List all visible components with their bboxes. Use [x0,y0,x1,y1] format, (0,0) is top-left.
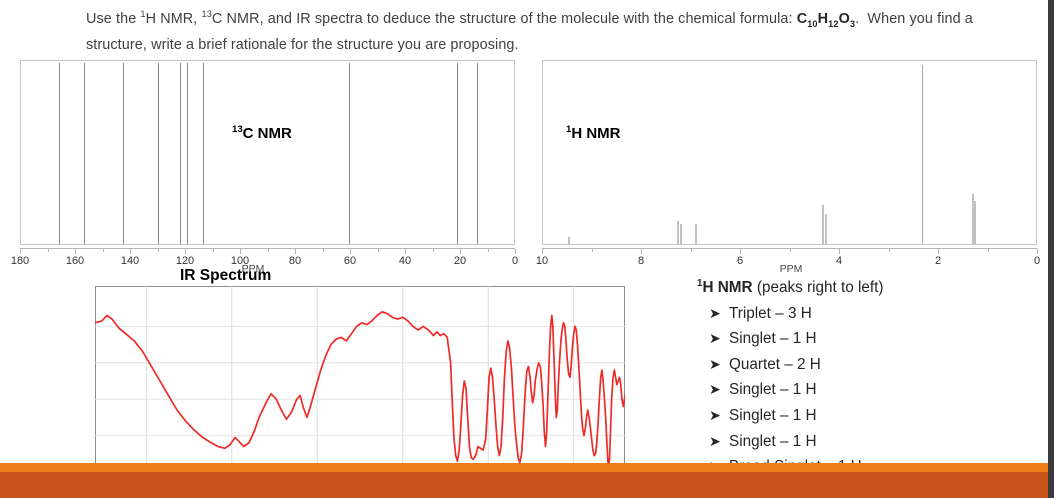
arrow-bullet-icon: ➤ [709,403,729,428]
list-item: ➤Singlet – 1 H [697,429,1042,455]
c13-axis-tick [295,249,296,254]
ir-trace-line [95,312,625,467]
h1-axis-tick [542,249,543,254]
c13-peak [123,63,124,244]
h1-axis-minor-tick [592,249,593,252]
list-item-label: Singlet – 1 H [729,378,817,403]
h1-peak [695,224,697,244]
h1-axis-minor-tick [889,249,890,252]
list-item: ➤Singlet – 1 H [697,403,1042,429]
c13-axis-minor-tick [268,249,269,252]
c13-tick-label: 120 [176,255,194,267]
c13-peak [158,63,159,244]
h1-peak [677,221,679,244]
c13-tick-label: 20 [454,255,466,267]
c13-nmr-chart: 13C NMR 180160140120100806040200 PPM [0,52,528,282]
c13-tick-label: 60 [344,255,356,267]
c13-tick-label: 80 [289,255,301,267]
h1-axis-tick [839,249,840,254]
slide-edge-strip [1048,0,1054,498]
accent-bar-light [0,463,1048,472]
c13-axis-tick [515,249,516,254]
c13-peak [203,63,204,244]
c13-peak [457,63,458,244]
c13-axis-minor-tick [213,249,214,252]
c13-axis-tick [75,249,76,254]
c13-tick-label: 40 [399,255,411,267]
h1-axis-tick [938,249,939,254]
slide-canvas: Use the 1H NMR, 13C NMR, and IR spectra … [0,0,1054,498]
list-item-label: Singlet – 1 H [729,404,817,429]
h1-axis-minor-tick [691,249,692,252]
arrow-bullet-icon: ➤ [709,377,729,402]
c13-axis-tick [350,249,351,254]
h1-tick-label: 0 [1034,255,1040,267]
c13-title-superscript: 13 [232,124,243,135]
h1-axis-minor-tick [790,249,791,252]
c13-axis-minor-tick [158,249,159,252]
h1-axis-tick [740,249,741,254]
hnmr-list-heading: 1H NMR (peaks right to left) [697,272,1042,301]
c13-title-text: C NMR [243,125,292,142]
h1-tick-label: 2 [935,255,941,267]
h1-nmr-chart: 1H NMR 1086420 PPM [526,52,1054,282]
c13-peak [187,63,188,244]
c13-axis-minor-tick [378,249,379,252]
c13-axis-tick [240,249,241,254]
c13-axis-tick [20,249,21,254]
c13-axis-tick [185,249,186,254]
c13-tick-label: 0 [512,255,518,267]
h1-peak [825,214,827,244]
arrow-bullet-icon: ➤ [709,326,729,351]
h1-axis-tick [641,249,642,254]
h1-peak [822,205,824,244]
page-title: Use the 1H NMR, 13C NMR, and IR spectra … [86,4,996,56]
h1-axis-tick [1037,249,1038,254]
list-item: ➤Triplet – 3 H [697,301,1042,327]
c13-peak [180,63,181,244]
c13-peak [477,63,478,244]
h1-tick-label: 10 [536,255,548,267]
c13-chart-title: 13C NMR [232,124,292,142]
list-item-label: Triplet – 3 H [729,302,812,327]
h1-plot-area [542,60,1037,245]
c13-tick-label: 140 [121,255,139,267]
c13-axis-minor-tick [323,249,324,252]
h1-axis-minor-tick [988,249,989,252]
arrow-bullet-icon: ➤ [709,301,729,326]
ir-spectrum-chart: 350030002500200015001000 [95,286,625,476]
h1-peak [922,65,923,244]
list-item: ➤Singlet – 1 H [697,326,1042,352]
h1-tick-label: 6 [737,255,743,267]
h1-peak [568,237,570,244]
c13-axis-minor-tick [488,249,489,252]
h1-title-text: H NMR [571,125,620,142]
list-item-label: Singlet – 1 H [729,327,817,352]
hnmr-list-items: ➤Triplet – 3 H➤Singlet – 1 H➤Quartet – 2… [697,301,1042,480]
c13-axis-tick [405,249,406,254]
h1-chart-title: 1H NMR [566,124,621,142]
list-item-label: Quartet – 2 H [729,353,821,378]
ir-chart-title: IR Spectrum [180,267,271,285]
c13-axis-minor-tick [103,249,104,252]
arrow-bullet-icon: ➤ [709,352,729,377]
accent-bar-dark [0,472,1048,498]
list-item: ➤Singlet – 1 H [697,377,1042,403]
c13-axis-tick [460,249,461,254]
hnmr-heading-text: H NMR [702,279,752,296]
h1-peak [974,201,976,244]
hnmr-summary-list: 1H NMR (peaks right to left) ➤Triplet – … [697,272,1042,480]
c13-axis-tick [130,249,131,254]
c13-tick-label: 180 [11,255,29,267]
c13-peak [59,63,60,244]
c13-plot-area [20,60,515,245]
c13-peak [349,63,350,244]
c13-peak [84,63,85,244]
c13-axis-minor-tick [433,249,434,252]
h1-tick-label: 8 [638,255,644,267]
list-item-label: Singlet – 1 H [729,430,817,455]
h1-tick-label: 4 [836,255,842,267]
h1-peak [680,224,682,244]
c13-tick-label: 160 [66,255,84,267]
hnmr-heading-suffix: (peaks right to left) [753,279,884,296]
c13-axis-minor-tick [48,249,49,252]
arrow-bullet-icon: ➤ [709,429,729,454]
ir-trace-svg [95,286,625,476]
list-item: ➤Quartet – 2 H [697,352,1042,378]
